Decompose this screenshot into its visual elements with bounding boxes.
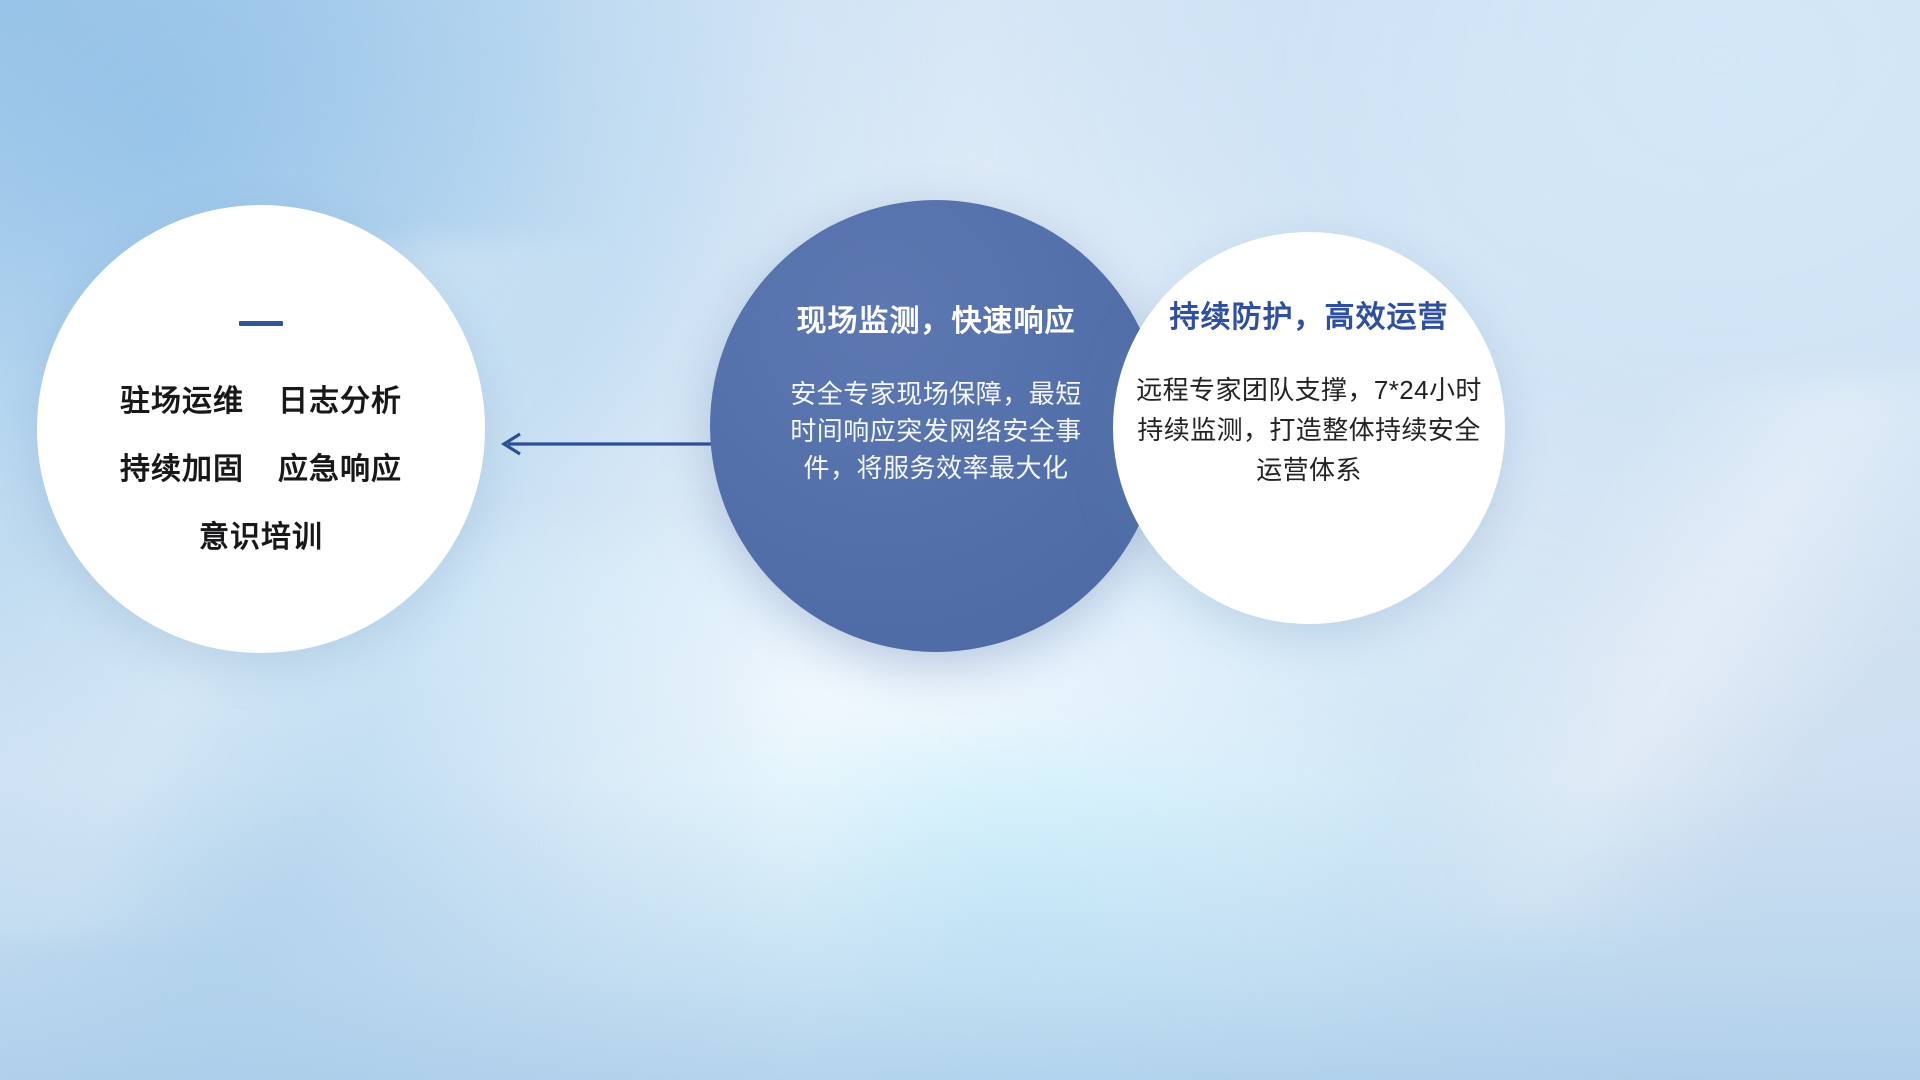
divider-dash — [239, 321, 283, 326]
capability-item: 驻场运维 — [120, 376, 244, 420]
blue-circle-title: 现场监测，快速响应 — [797, 296, 1076, 340]
slide-canvas: 驻场运维 日志分析 持续加固 应急响应 意识培训 现场监测，快速响应 安全专家现… — [0, 0, 1920, 1080]
capability-item: 应急响应 — [278, 444, 402, 488]
right-circle-body: 远程专家团队支撑，7*24小时持续监测，打造整体持续安全运营体系 — [1129, 370, 1489, 490]
capability-item: 日志分析 — [278, 376, 402, 420]
capability-item: 持续加固 — [120, 444, 244, 488]
capability-row: 持续加固 应急响应 — [120, 444, 402, 488]
blue-circle-content: 现场监测，快速响应 安全专家现场保障，最短时间响应突发网络安全事件，将服务效率最… — [710, 200, 1162, 652]
left-circle-content: 驻场运维 日志分析 持续加固 应急响应 意识培训 — [37, 205, 485, 653]
flow-arrow-icon — [490, 424, 715, 464]
capability-list: 驻场运维 日志分析 持续加固 应急响应 意识培训 — [120, 376, 402, 556]
background-vignette-bottom — [0, 780, 1920, 1080]
blue-circle-body: 安全专家现场保障，最短时间响应突发网络安全事件，将服务效率最大化 — [786, 376, 1086, 487]
capability-item: 意识培训 — [199, 512, 323, 556]
right-circle-title: 持续防护，高效运营 — [1170, 292, 1449, 336]
capability-row: 意识培训 — [199, 512, 323, 556]
capability-row: 驻场运维 日志分析 — [120, 376, 402, 420]
right-circle-content: 持续防护，高效运营 远程专家团队支撑，7*24小时持续监测，打造整体持续安全运营… — [1113, 232, 1505, 624]
